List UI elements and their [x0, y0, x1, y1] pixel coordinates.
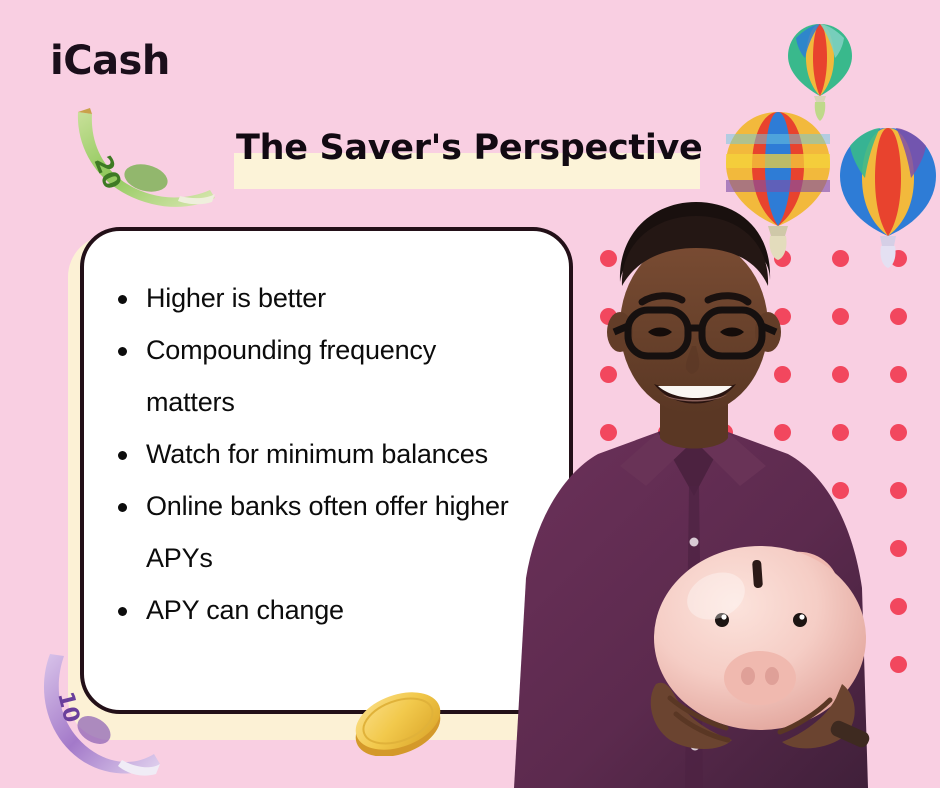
hot-air-balloon-right-icon	[836, 126, 940, 268]
decorative-dot	[716, 656, 733, 673]
decorative-dot	[774, 540, 791, 557]
bullet-item: Online banks often offer higher APYs	[110, 480, 530, 584]
decorative-dot	[600, 250, 617, 267]
decorative-dot	[774, 308, 791, 325]
decorative-dot	[658, 308, 675, 325]
decorative-dot	[890, 598, 907, 615]
dot-pattern-background	[600, 250, 940, 750]
decorative-dot	[774, 598, 791, 615]
decorative-dot	[600, 598, 617, 615]
poster-canvas: 20 The Saver's Perspective iCash	[0, 0, 940, 788]
hot-air-balloon-top-icon	[784, 22, 856, 122]
decorative-dot	[658, 366, 675, 383]
decorative-dot	[658, 250, 675, 267]
page-title: The Saver's Perspective	[236, 128, 716, 168]
decorative-dot	[832, 308, 849, 325]
decorative-dot	[890, 424, 907, 441]
decorative-dot	[832, 598, 849, 615]
decorative-dot	[716, 482, 733, 499]
decorative-dot	[716, 598, 733, 615]
decorative-dot	[774, 424, 791, 441]
decorative-dot	[774, 250, 791, 267]
decorative-dot	[658, 540, 675, 557]
bullet-list: Higher is betterCompounding frequency ma…	[110, 272, 530, 636]
decorative-dot	[890, 540, 907, 557]
decorative-dot	[716, 308, 733, 325]
decorative-dot	[658, 598, 675, 615]
decorative-dot	[832, 250, 849, 267]
decorative-dot	[658, 482, 675, 499]
bullet-item: Watch for minimum balances	[110, 428, 530, 480]
decorative-dot	[832, 366, 849, 383]
decorative-dot	[890, 308, 907, 325]
decorative-dot	[600, 424, 617, 441]
decorative-dot	[716, 424, 733, 441]
decorative-dot	[600, 366, 617, 383]
brand-logo: iCash	[50, 38, 170, 84]
svg-text:20: 20	[88, 152, 126, 193]
decorative-dot	[890, 482, 907, 499]
decorative-dot	[832, 540, 849, 557]
decorative-dot	[890, 250, 907, 267]
decorative-dot	[774, 482, 791, 499]
bullet-item: APY can change	[110, 584, 530, 636]
decorative-dot	[600, 540, 617, 557]
banknote-20-icon: 20	[60, 104, 220, 214]
decorative-dot	[658, 656, 675, 673]
decorative-dot	[890, 366, 907, 383]
hot-air-balloon-left-icon	[722, 110, 834, 260]
decorative-dot	[600, 656, 617, 673]
bullet-item: Higher is better	[110, 272, 530, 324]
decorative-dot	[890, 656, 907, 673]
decorative-dot	[774, 366, 791, 383]
decorative-dot	[774, 656, 791, 673]
decorative-dot	[600, 308, 617, 325]
decorative-dot	[832, 482, 849, 499]
decorative-dot	[832, 656, 849, 673]
decorative-dot	[716, 366, 733, 383]
bullet-item: Compounding frequency matters	[110, 324, 530, 428]
decorative-dot	[716, 250, 733, 267]
decorative-dot	[658, 424, 675, 441]
decorative-dot	[716, 540, 733, 557]
decorative-dot	[832, 424, 849, 441]
decorative-dot	[600, 482, 617, 499]
